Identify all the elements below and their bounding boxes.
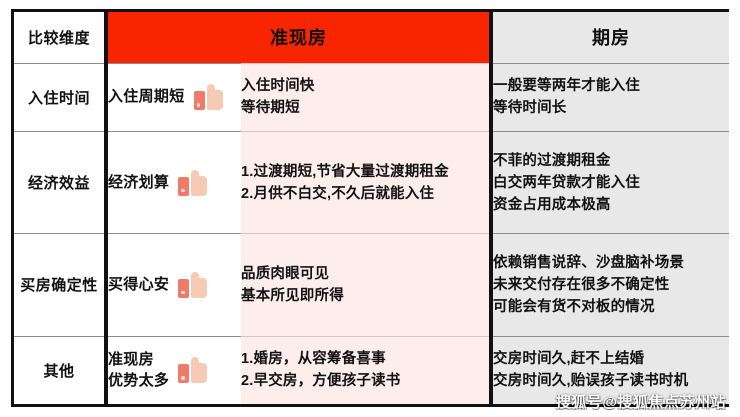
row-dimension: 买房确定性 [14,234,106,336]
thumbs-up-icon [194,84,223,110]
table-row: 买房确定性 买得心安 品质肉眼可见 基本所见即所得 依赖销售说辞、沙盘脑补场景 … [14,234,729,336]
thumbs-up-icon [178,170,207,196]
thumbs-up-icon [178,357,207,383]
row-pros: 1.过渡期短,节省大量过渡期租金 2.月供不白交,不久后就能入住 [241,132,491,234]
row-tag-cell: 准现房 优势太多 [106,336,241,404]
table-row: 其他 准现房 优势太多 1.婚房，从容筹备喜事 2.早交房，方便孩子读书 交房时… [14,336,729,404]
row-tag-label: 入住周期短 [108,86,185,108]
row-cons: 依赖销售说辞、沙盘脑补场景 未来交付存在很多不确定性 可能会有货不对板的情况 [491,234,729,336]
comparison-table: 比较维度 准现房 期房 入住时间 入住周期短 入住时间快 等待期短 一般要等两年… [14,12,729,404]
comparison-infographic: 比较维度 准现房 期房 入住时间 入住周期短 入住时间快 等待期短 一般要等两年… [0,0,740,417]
thumbs-up-icon [178,272,207,298]
row-dimension: 其他 [14,336,106,404]
row-tag-label: 经济划算 [108,172,169,194]
table-row: 入住时间 入住周期短 入住时间快 等待期短 一般要等两年才能入住 等待时间长 [14,63,729,132]
row-dimension: 经济效益 [14,132,106,234]
row-cons: 不菲的过渡期租金 白交两年贷款才能入住 资金占用成本极高 [491,132,729,234]
row-pros: 1.婚房，从容筹备喜事 2.早交房，方便孩子读书 [241,336,491,404]
row-pros: 品质肉眼可见 基本所见即所得 [241,234,491,336]
row-tag-label: 买得心安 [108,274,169,296]
row-pros: 入住时间快 等待期短 [241,63,491,132]
row-cons: 交房时间久,赶不上结婚 交房时间久,贻误孩子读书时机 [491,336,729,404]
header-dimension: 比较维度 [14,12,106,63]
row-tag-cell: 买得心安 [106,234,241,336]
comparison-table-wrapper: 比较维度 准现房 期房 入住时间 入住周期短 入住时间快 等待期短 一般要等两年… [11,9,729,407]
row-tag-cell: 经济划算 [106,132,241,234]
row-dimension: 入住时间 [14,63,106,132]
table-row: 经济效益 经济划算 1.过渡期短,节省大量过渡期租金 2.月供不白交,不久后就能… [14,132,729,234]
row-tag-label: 准现房 优势太多 [108,349,169,393]
row-tag-cell: 入住周期短 [106,63,241,132]
header-quasi-ready: 准现房 [106,12,491,63]
header-forward-delivery: 期房 [491,12,729,63]
table-header-row: 比较维度 准现房 期房 [14,12,729,63]
row-cons: 一般要等两年才能入住 等待时间长 [491,63,729,132]
